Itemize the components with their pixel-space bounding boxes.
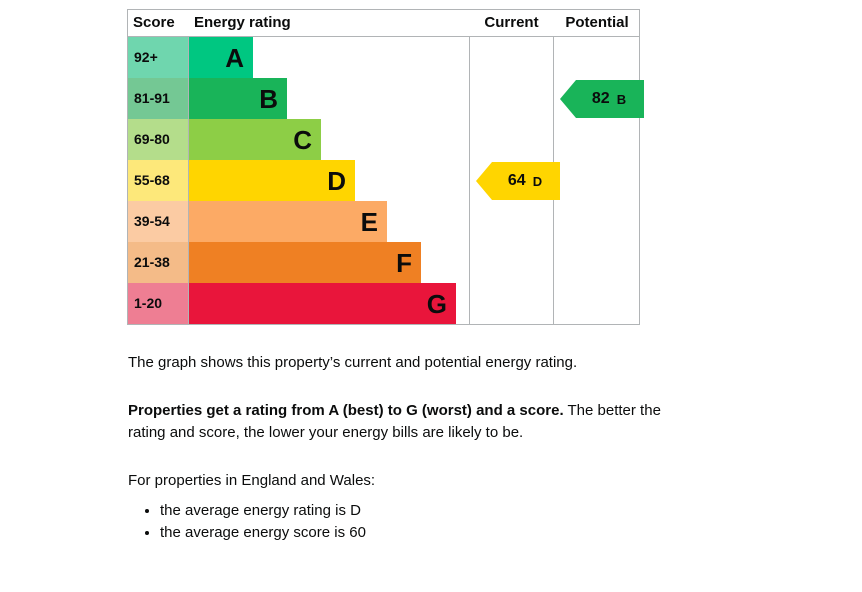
band-score-g: 1-20 (128, 283, 188, 324)
rating-explanation-bold: Properties get a rating from A (best) to… (128, 402, 564, 419)
energy-rating-chart: Score Energy rating Current Potential 92… (127, 9, 640, 325)
band-score-e: 39-54 (128, 201, 188, 242)
band-score-a: 92+ (128, 37, 188, 78)
average-stats-list: the average energy rating is D the avera… (128, 500, 688, 544)
band-bar-a: A (189, 37, 253, 78)
band-letter-f: F (396, 250, 421, 276)
rating-explanation-paragraph: Properties get a rating from A (best) to… (128, 400, 688, 444)
intro-paragraph: The graph shows this property’s current … (128, 352, 688, 374)
band-score-c: 69-80 (128, 119, 188, 160)
list-item: the average energy score is 60 (160, 522, 688, 544)
column-header-current: Current (470, 10, 553, 36)
epc-page: Score Energy rating Current Potential 92… (0, 0, 862, 592)
column-header-energy-rating: Energy rating (194, 10, 291, 36)
band-letter-g: G (427, 291, 456, 317)
chart-header-row: Score Energy rating Current Potential (128, 10, 639, 37)
current-score-value: 64 (508, 172, 526, 190)
explanatory-text: The graph shows this property’s current … (128, 352, 688, 544)
band-row: 81-91 B 82 B (128, 78, 639, 119)
band-letter-d: D (327, 168, 355, 194)
band-letter-b: B (259, 86, 287, 112)
chart-body: 92+ A 81-91 B 82 B 69-80 C (128, 37, 639, 324)
column-header-score: Score (133, 10, 175, 36)
band-letter-e: E (361, 209, 387, 235)
band-bar-e: E (189, 201, 387, 242)
band-bar-d: D (189, 160, 355, 201)
potential-rating-letter: B (617, 92, 626, 107)
list-item: the average energy rating is D (160, 500, 688, 522)
band-bar-f: F (189, 242, 421, 283)
band-row: 55-68 D 64 D (128, 160, 639, 201)
band-score-f: 21-38 (128, 242, 188, 283)
band-row: 69-80 C (128, 119, 639, 160)
band-letter-a: A (225, 45, 253, 71)
current-rating-letter: D (533, 174, 542, 189)
potential-score-value: 82 (592, 90, 610, 108)
band-bar-g: G (189, 283, 456, 324)
band-bar-c: C (189, 119, 321, 160)
band-bar-b: B (189, 78, 287, 119)
band-score-b: 81-91 (128, 78, 188, 119)
region-heading: For properties in England and Wales: (128, 470, 688, 492)
band-row: 21-38 F (128, 242, 639, 283)
current-rating-marker: 64 D (476, 162, 560, 200)
band-row: 1-20 G (128, 283, 639, 324)
potential-rating-marker: 82 B (560, 80, 644, 118)
column-header-potential: Potential (554, 10, 640, 36)
band-row: 39-54 E (128, 201, 639, 242)
band-row: 92+ A (128, 37, 639, 78)
band-score-d: 55-68 (128, 160, 188, 201)
band-letter-c: C (293, 127, 321, 153)
